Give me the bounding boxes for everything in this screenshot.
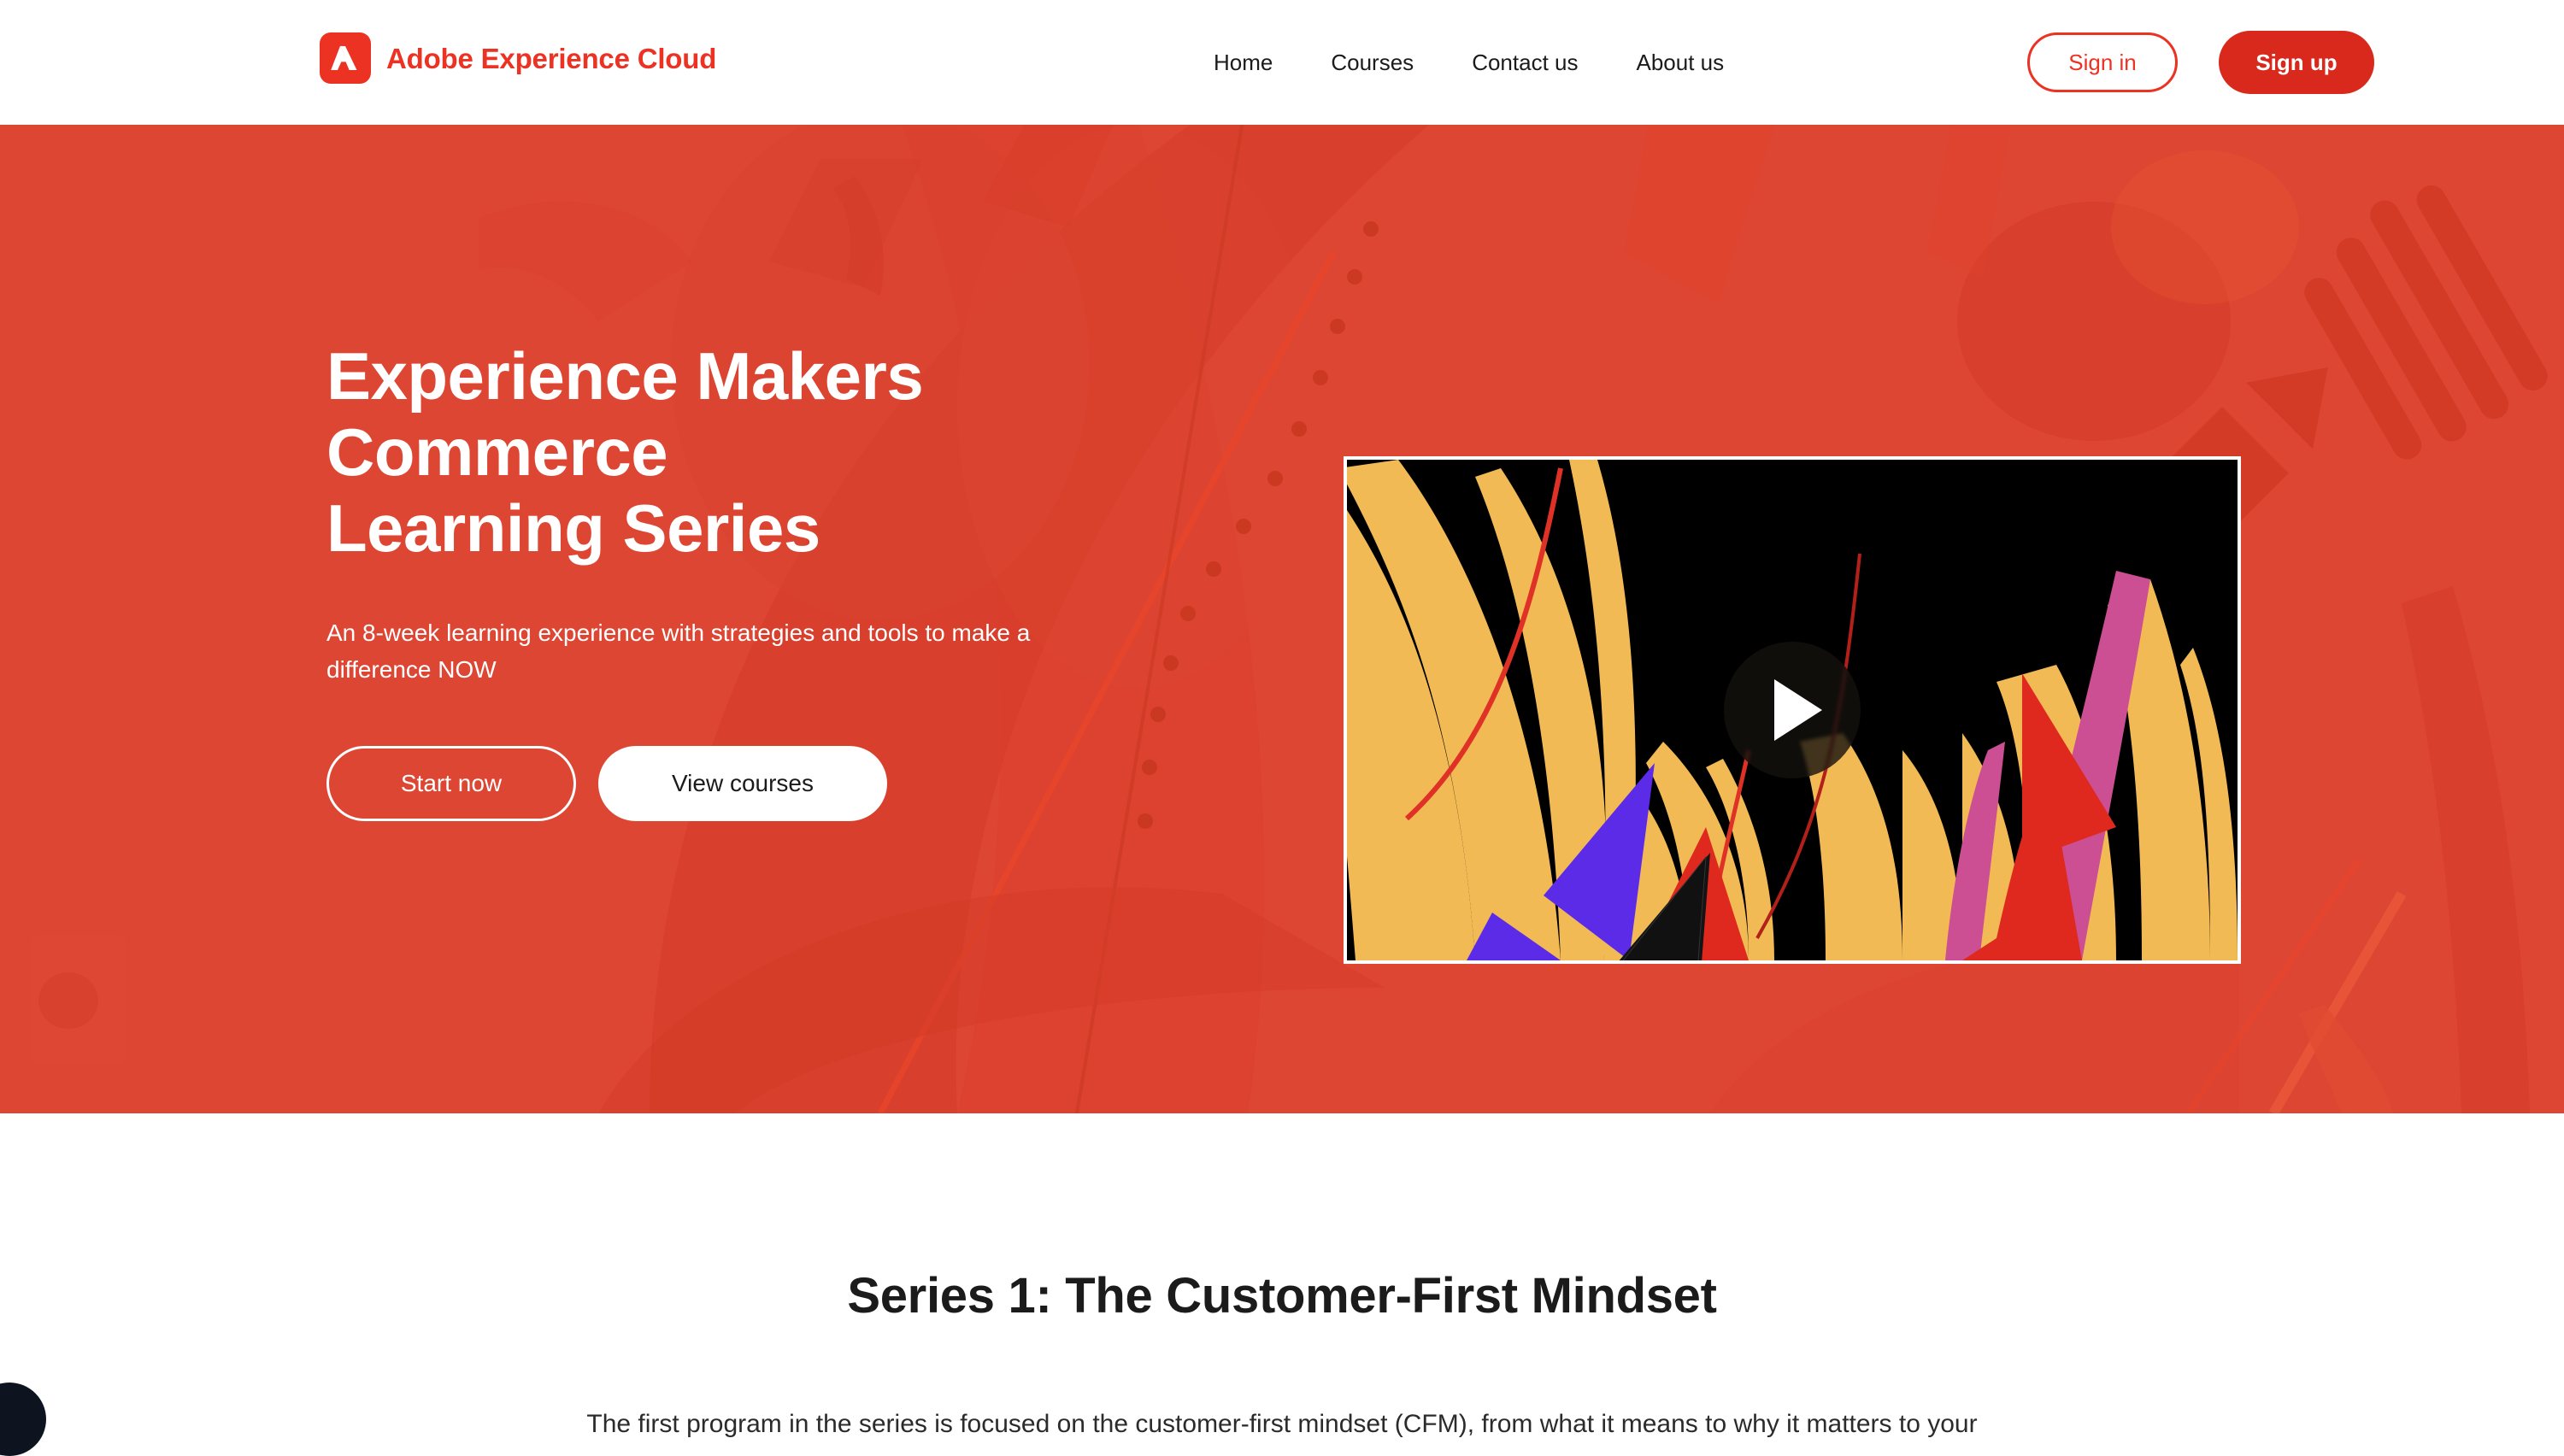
view-courses-button[interactable]: View courses bbox=[598, 746, 887, 821]
start-now-button[interactable]: Start now bbox=[326, 746, 576, 821]
auth-button-group: Sign in Sign up bbox=[2027, 0, 2374, 125]
hero-subtitle: An 8-week learning experience with strat… bbox=[326, 614, 1113, 688]
hero-video-player[interactable] bbox=[1344, 456, 2241, 964]
sign-in-button[interactable]: Sign in bbox=[2027, 32, 2178, 92]
adobe-a-icon bbox=[320, 32, 371, 84]
hero-title-line-2: Commerce bbox=[326, 414, 1181, 490]
hero-cta-group: Start now View courses bbox=[326, 746, 1181, 821]
series-title: Series 1: The Customer-First Mindset bbox=[0, 1267, 2564, 1324]
hero-title: Experience Makers Commerce Learning Seri… bbox=[326, 338, 1181, 567]
hero-title-line-1: Experience Makers bbox=[326, 338, 1181, 414]
play-icon[interactable] bbox=[1724, 642, 1861, 778]
nav-item-courses[interactable]: Courses bbox=[1302, 51, 1443, 73]
nav-item-contact-us[interactable]: Contact us bbox=[1443, 51, 1607, 73]
brand-name: Adobe Experience Cloud bbox=[386, 44, 716, 73]
play-triangle bbox=[1774, 679, 1822, 741]
brand-logo-link[interactable]: Adobe Experience Cloud bbox=[320, 32, 716, 84]
hero-copy: Experience Makers Commerce Learning Seri… bbox=[326, 338, 1181, 821]
series-description: The first program in the series is focus… bbox=[0, 1404, 2564, 1445]
site-header: Adobe Experience Cloud Home Courses Cont… bbox=[0, 0, 2564, 125]
nav-item-home[interactable]: Home bbox=[1214, 51, 1302, 73]
nav-item-about-us[interactable]: About us bbox=[1607, 51, 1753, 73]
series-section: Series 1: The Customer-First Mindset The… bbox=[0, 1113, 2564, 1430]
sign-up-button[interactable]: Sign up bbox=[2219, 31, 2374, 94]
hero-section: Experience Makers Commerce Learning Seri… bbox=[0, 125, 2564, 1113]
hero-title-line-3: Learning Series bbox=[326, 490, 1181, 567]
main-navigation: Home Courses Contact us About us bbox=[1214, 0, 1753, 125]
